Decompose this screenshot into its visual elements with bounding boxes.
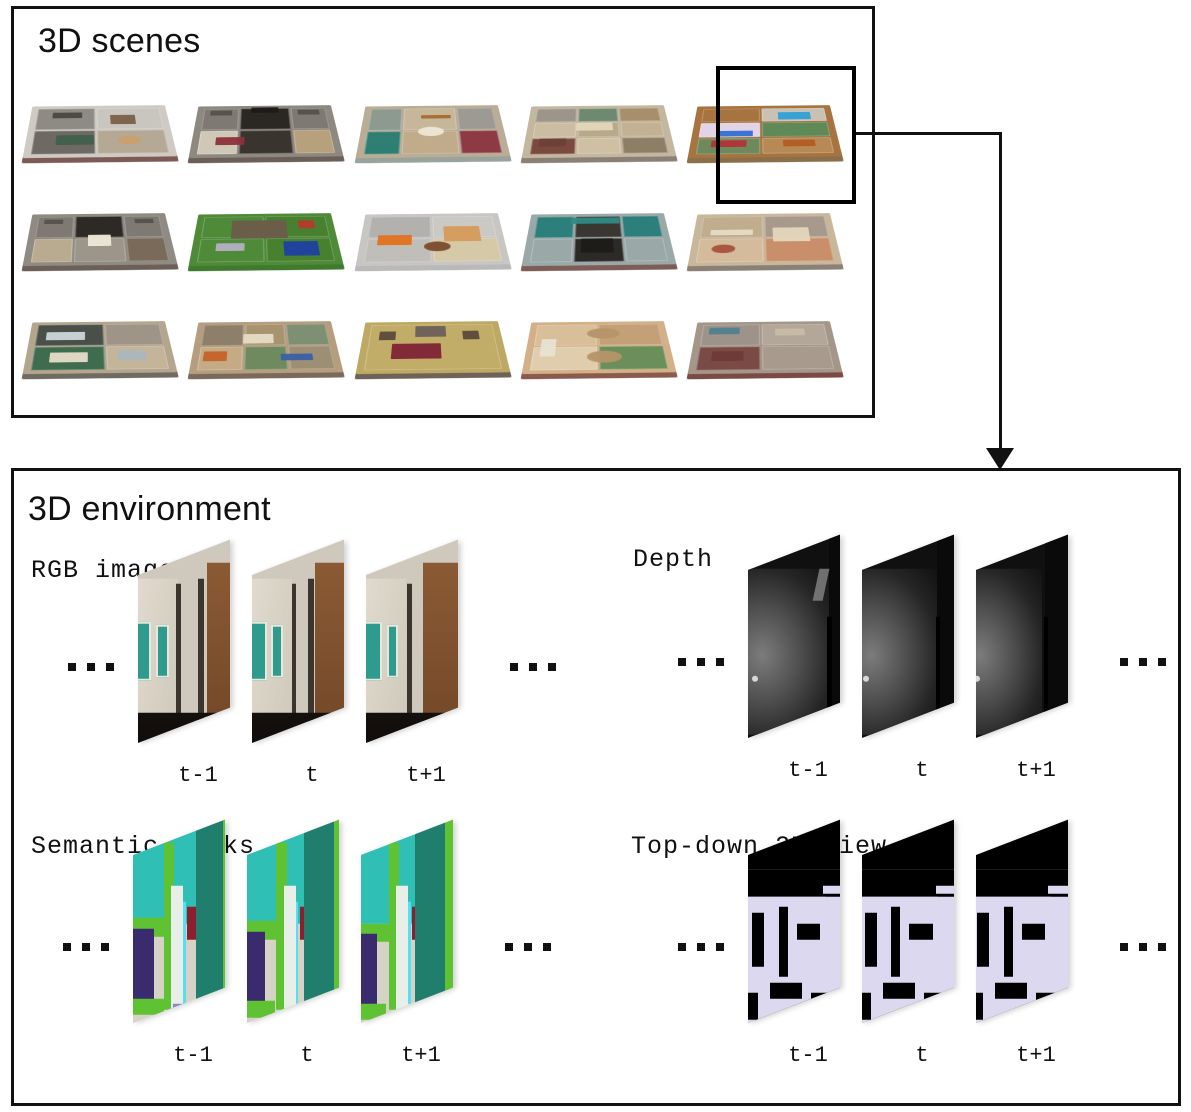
semantic-frame-t-minus-1[interactable]: t-1 — [133, 855, 253, 1075]
semantic-frame-tick-1: t — [247, 1043, 367, 1068]
topdown-frame-t-minus-1[interactable]: t-1 — [748, 855, 868, 1075]
topdown-image-plane — [976, 820, 1068, 1023]
scene-thumbnail-15[interactable] — [684, 294, 846, 398]
semantic-image-plane — [133, 820, 225, 1023]
semantic-image-plane — [247, 820, 339, 1023]
topdown-image-plane — [862, 820, 954, 1023]
topdown-frame-tick-1: t — [862, 1043, 982, 1068]
scene-thumbnail-10[interactable] — [684, 186, 846, 290]
rgb-image-plane — [138, 540, 230, 743]
scene-thumbnail-grid — [18, 78, 846, 398]
connector-line-horizontal — [856, 132, 1002, 135]
topdown-frame-strip: t-1 t — [670, 855, 1170, 1085]
depth-leading-ellipsis — [678, 658, 724, 666]
rgb-frame-t[interactable]: t — [252, 575, 372, 795]
scene-thumbnail-13[interactable] — [351, 294, 513, 398]
semantic-trailing-ellipsis — [505, 943, 551, 951]
topdown-frame-tick-0: t-1 — [748, 1043, 868, 1068]
scene-thumbnail-5-highlighted[interactable] — [684, 78, 846, 182]
depth-frame-t-minus-1[interactable]: t-1 — [748, 570, 868, 790]
scene-thumbnail-6[interactable] — [18, 186, 180, 290]
scene-thumbnail-11[interactable] — [18, 294, 180, 398]
depth-frame-tick-2: t+1 — [976, 758, 1096, 783]
rgb-frame-tick-1: t — [252, 763, 372, 788]
depth-frame-tick-1: t — [862, 758, 982, 783]
depth-frame-tick-0: t-1 — [748, 758, 868, 783]
topdown-trailing-ellipsis — [1120, 943, 1166, 951]
rgb-frame-tick-0: t-1 — [138, 763, 258, 788]
rgb-image-plane — [252, 540, 344, 743]
semantic-leading-ellipsis — [63, 943, 109, 951]
semantic-frame-tick-2: t+1 — [361, 1043, 481, 1068]
rgb-frame-t-minus-1[interactable]: t-1 — [138, 575, 258, 795]
depth-frame-t-plus-1[interactable]: t+1 — [976, 570, 1096, 790]
depth-image-plane — [748, 535, 840, 738]
connector-arrow-head-icon — [986, 448, 1014, 470]
depth-image-plane — [976, 535, 1068, 738]
semantic-frame-t-plus-1[interactable]: t+1 — [361, 855, 481, 1075]
rgb-frame-strip: t-1 t t+1 — [60, 575, 560, 805]
rgb-frame-t-plus-1[interactable]: t+1 — [366, 575, 486, 795]
scene-thumbnail-7[interactable] — [184, 186, 346, 290]
topdown-frame-t[interactable]: t — [862, 855, 982, 1075]
scene-thumbnail-1[interactable] — [18, 78, 180, 182]
connector-line-vertical — [999, 132, 1002, 462]
depth-image-plane — [862, 535, 954, 738]
depth-frame-t[interactable]: t — [862, 570, 982, 790]
rgb-trailing-ellipsis — [510, 663, 556, 671]
semantic-frame-tick-0: t-1 — [133, 1043, 253, 1068]
scene-thumbnail-12[interactable] — [184, 294, 346, 398]
rgb-image-plane — [366, 540, 458, 743]
topdown-image-plane — [748, 820, 840, 1023]
rgb-leading-ellipsis — [68, 663, 114, 671]
semantic-frame-t[interactable]: t — [247, 855, 367, 1075]
scene-thumbnail-3[interactable] — [351, 78, 513, 182]
topdown-frame-tick-2: t+1 — [976, 1043, 1096, 1068]
depth-frame-strip: t-1 t t+1 — [670, 570, 1170, 800]
scenes-panel-title: 3D scenes — [38, 22, 200, 61]
scene-thumbnail-14[interactable] — [517, 294, 679, 398]
semantic-image-plane — [361, 820, 453, 1023]
scene-thumbnail-2[interactable] — [184, 78, 346, 182]
scene-thumbnail-8[interactable] — [351, 186, 513, 290]
depth-trailing-ellipsis — [1120, 658, 1166, 666]
rgb-frame-tick-2: t+1 — [366, 763, 486, 788]
environment-panel-title: 3D environment — [28, 490, 271, 529]
scene-thumbnail-9[interactable] — [517, 186, 679, 290]
topdown-leading-ellipsis — [678, 943, 724, 951]
topdown-frame-t-plus-1[interactable]: t+1 — [976, 855, 1096, 1075]
semantic-frame-strip: t-1 t — [55, 855, 555, 1085]
scene-thumbnail-4[interactable] — [517, 78, 679, 182]
